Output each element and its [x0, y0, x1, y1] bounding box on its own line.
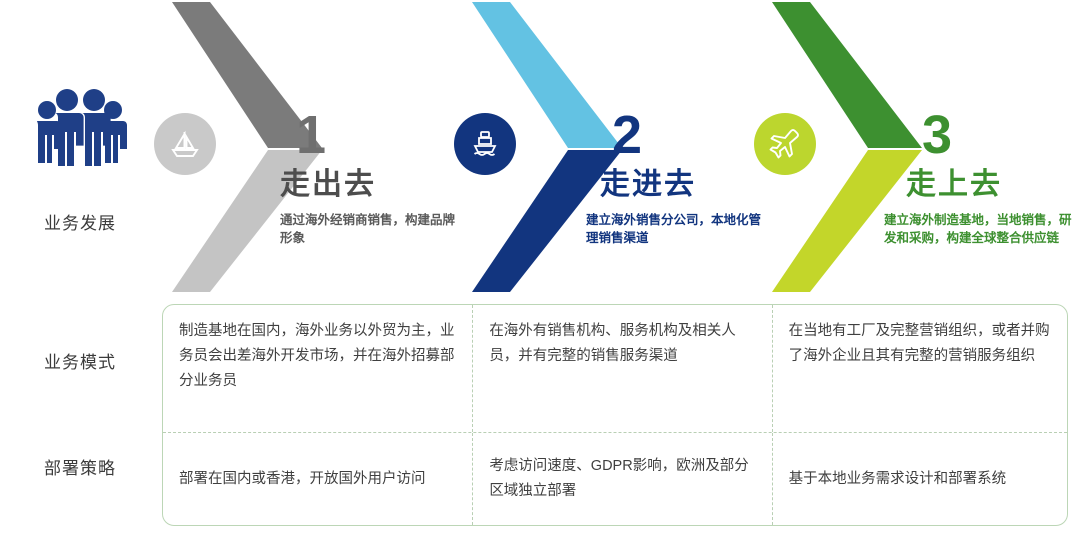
sailboat-icon: [154, 113, 216, 175]
ship-icon: [454, 113, 516, 175]
airplane-icon: [754, 113, 816, 175]
cell-business-model-2: 在海外有销售机构、服务机构及相关人员，并有完整的销售服务渠道: [472, 305, 771, 432]
stage-3-title: 走上去: [878, 168, 1078, 203]
row-label-business-model: 业务模式: [0, 348, 160, 373]
stage-1-description: 通过海外经销商销售，构建品牌形象: [278, 211, 463, 249]
cell-deployment-1: 部署在国内或香港，开放国外用户访问: [163, 433, 472, 525]
stage-1-text: 1 走出去 通过海外经销商销售，构建品牌形象: [278, 108, 478, 248]
cell-business-model-1: 制造基地在国内，海外业务以外贸为主，业务员会出差海外开发市场，并在海外招募部分业…: [163, 305, 472, 432]
stage-3-text: 3 走上去 建立海外制造基地，当地销售，研发和采购，构建全球整合供应链: [878, 108, 1078, 248]
row-label-development: 业务发展: [0, 209, 160, 234]
comparison-matrix: 制造基地在国内，海外业务以外贸为主，业务员会出差海外开发市场，并在海外招募部分业…: [162, 304, 1068, 526]
stage-1-number: 1: [278, 108, 478, 162]
infographic-canvas: 业务发展 业务模式 部署策略 1 走出去 通过海外经销商销售，构建品牌形象: [0, 0, 1080, 539]
cell-deployment-2: 考虑访问速度、GDPR影响，欧洲及部分区域独立部署: [472, 433, 771, 525]
cell-business-model-3: 在当地有工厂及完整营销组织，或者并购了海外企业且其有完整的营销服务组织: [772, 305, 1067, 432]
stage-3-number: 3: [878, 108, 1078, 162]
people-group-icon: [33, 88, 128, 173]
stage-2-description: 建立海外销售分公司，本地化管理销售渠道: [582, 211, 767, 249]
stage-2[interactable]: 2 走进去 建立海外销售分公司，本地化管理销售渠道: [450, 0, 780, 295]
stage-1-title: 走出去: [278, 168, 478, 203]
table-row-deployment-strategy: 部署在国内或香港，开放国外用户访问 考虑访问速度、GDPR影响，欧洲及部分区域独…: [163, 432, 1067, 525]
row-label-deployment-strategy: 部署策略: [0, 454, 160, 479]
stage-1[interactable]: 1 走出去 通过海外经销商销售，构建品牌形象: [150, 0, 480, 295]
stage-3-description: 建立海外制造基地，当地销售，研发和采购，构建全球整合供应链: [878, 211, 1078, 249]
cell-deployment-3: 基于本地业务需求设计和部署系统: [772, 433, 1067, 525]
table-row-business-model: 制造基地在国内，海外业务以外贸为主，业务员会出差海外开发市场，并在海外招募部分业…: [163, 305, 1067, 432]
stage-3[interactable]: 3 走上去 建立海外制造基地，当地销售，研发和采购，构建全球整合供应链: [750, 0, 1080, 295]
